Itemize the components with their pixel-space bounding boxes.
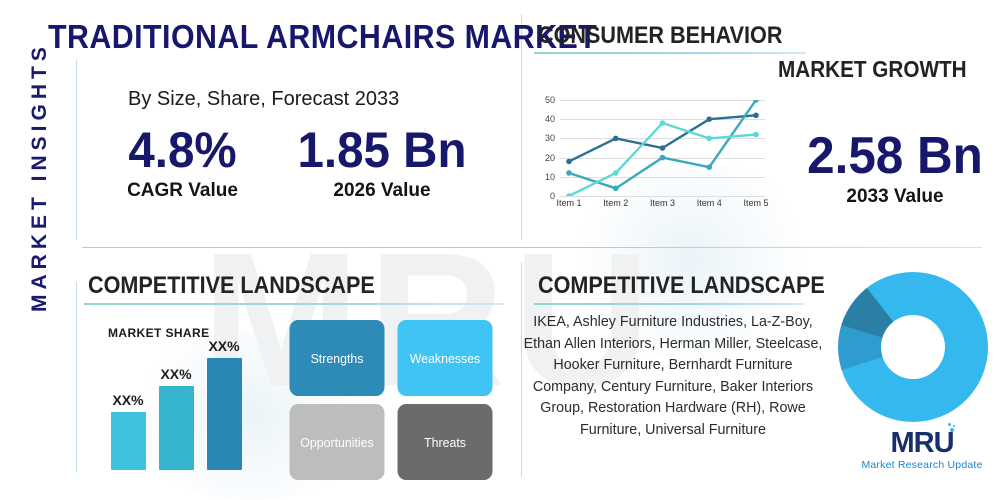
market-share-donut-chart: [838, 272, 990, 422]
line-chart-data-point: [566, 170, 572, 176]
line-chart-data-point: [613, 136, 619, 142]
line-chart-plot-area: 01020304050Item 1Item 2Item 3Item 4Item …: [560, 100, 765, 196]
line-chart-y-tick: 30: [535, 133, 555, 143]
logo-text: MRU: [890, 427, 953, 459]
line-chart-data-point: [613, 170, 619, 176]
market-share-bar: [159, 386, 194, 470]
kpi-2033-caption: 2033 Value: [800, 186, 990, 208]
line-chart-data-point: [613, 186, 619, 192]
kpi-cagr: 4.8% CAGR Value: [100, 122, 265, 202]
page-title: TRADITIONAL ARMCHAIRS MARKET: [48, 18, 597, 56]
vertical-divider-bottom: [521, 262, 522, 477]
line-chart-y-tick: 20: [535, 153, 555, 163]
line-chart-x-tick: Item 5: [743, 198, 768, 208]
line-chart-y-tick: 40: [535, 114, 555, 124]
market-share-title: MARKET SHARE: [108, 326, 209, 340]
kpi-2033-value: 2.58 Bn: [805, 128, 986, 184]
line-chart-data-point: [566, 193, 572, 196]
market-insights-label: MARKET INSIGHTS: [28, 92, 52, 312]
swot-box-threats[interactable]: Threats: [398, 404, 493, 480]
kpi-2026-value: 1.85 Bn: [287, 122, 477, 178]
sidebar-rule-bottom: [76, 282, 77, 472]
line-chart-data-point: [706, 116, 712, 122]
market-share-bar: [207, 358, 242, 470]
swot-box-strengths[interactable]: Strengths: [290, 320, 385, 396]
mru-logo: MRU Market Research Update: [852, 428, 992, 471]
line-chart-data-point: [566, 159, 572, 165]
donut-hole: [881, 315, 945, 379]
line-chart-gridline: [560, 196, 765, 197]
sidebar-rule-top: [76, 60, 77, 240]
market-share-bar: [111, 412, 146, 470]
market-share-bar-label: XX%: [160, 366, 191, 382]
line-chart-series-layer: [560, 100, 765, 196]
section-heading-consumer-behavior: CONSUMER BEHAVIOR: [538, 22, 782, 50]
heading-underline-comp-left: [84, 303, 504, 305]
logo-tagline: Market Research Update: [852, 459, 992, 471]
line-chart-y-tick: 0: [535, 191, 555, 201]
swot-box-opportunities[interactable]: Opportunities: [290, 404, 385, 480]
line-chart-data-point: [753, 113, 759, 119]
consumer-behavior-line-chart: 01020304050Item 1Item 2Item 3Item 4Item …: [536, 100, 771, 212]
market-share-bar-chart: XX%XX%XX%: [103, 345, 273, 470]
market-share-bar-label: XX%: [208, 338, 239, 354]
swot-grid: StrengthsWeaknessesOpportunitiesThreats: [287, 320, 495, 480]
line-chart-y-tick: 50: [535, 95, 555, 105]
heading-underline-consumer: [534, 52, 806, 54]
line-chart-data-point: [706, 136, 712, 142]
infographic-page: MRU MARKET INSIGHTS TRADITIONAL ARMCHAIR…: [0, 0, 1000, 500]
line-chart-data-point: [660, 155, 666, 161]
heading-underline-comp-right: [534, 303, 804, 305]
logo-droplet-icon: [946, 423, 958, 437]
swot-box-weaknesses[interactable]: Weaknesses: [398, 320, 493, 396]
line-chart-x-tick: Item 1: [556, 198, 581, 208]
line-chart-data-point: [706, 164, 712, 170]
section-heading-competitive-landscape-left: COMPETITIVE LANDSCAPE: [88, 272, 375, 300]
horizontal-divider: [82, 247, 982, 248]
market-share-bar-label: XX%: [112, 392, 143, 408]
kpi-cagr-caption: CAGR Value: [100, 180, 265, 202]
line-chart-data-point: [660, 120, 666, 126]
kpi-2026: 1.85 Bn 2026 Value: [282, 122, 482, 202]
line-chart-series-line: [569, 100, 756, 188]
line-chart-x-tick: Item 3: [650, 198, 675, 208]
company-list: IKEA, Ashley Furniture Industries, La-Z-…: [523, 312, 823, 441]
line-chart-x-tick: Item 2: [603, 198, 628, 208]
line-chart-y-tick: 10: [535, 172, 555, 182]
kpi-2026-caption: 2026 Value: [282, 180, 482, 202]
kpi-cagr-value: 4.8%: [104, 122, 261, 178]
line-chart-data-point: [660, 145, 666, 151]
section-heading-market-growth: MARKET GROWTH: [778, 56, 967, 83]
logo-wordmark: MRU: [890, 428, 953, 458]
page-subtitle: By Size, Share, Forecast 2033: [128, 88, 399, 111]
line-chart-data-point: [753, 132, 759, 138]
kpi-2033: 2.58 Bn 2033 Value: [800, 128, 990, 208]
section-heading-competitive-landscape-right: COMPETITIVE LANDSCAPE: [538, 272, 825, 300]
line-chart-x-tick: Item 4: [697, 198, 722, 208]
